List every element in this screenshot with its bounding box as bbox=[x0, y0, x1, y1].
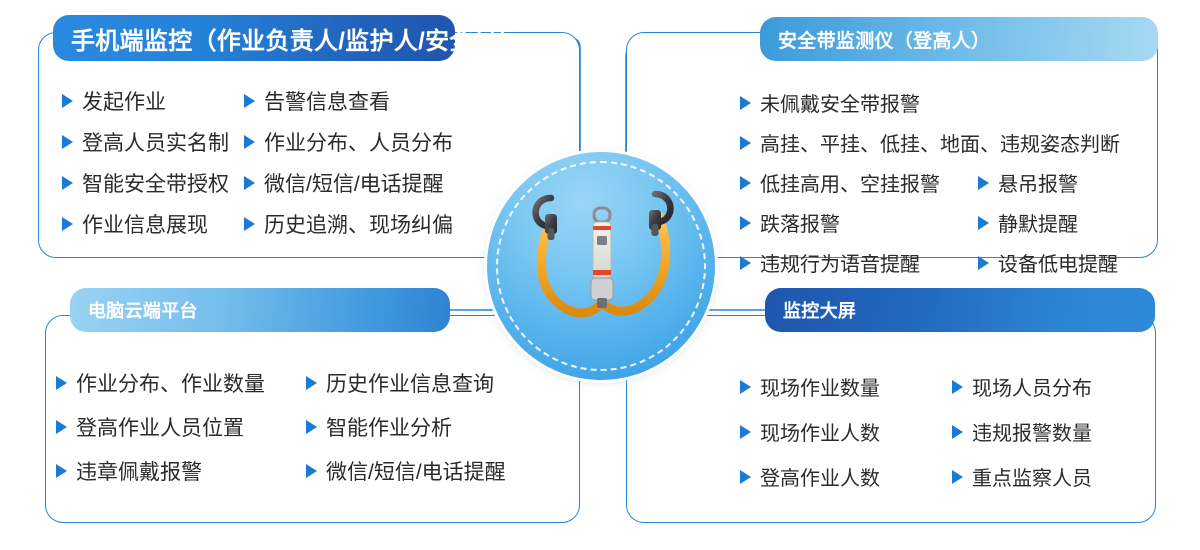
panel-body-mobile: 发起作业 告警信息查看 登高人员实名制 作业分布、人员分布 智能安全带授权 bbox=[62, 86, 572, 250]
list-item-label: 重点监察人员 bbox=[972, 462, 1092, 491]
arrow-bullet-icon bbox=[978, 256, 989, 270]
list-item[interactable]: 违章佩戴报警 bbox=[56, 456, 306, 486]
arrow-bullet-icon bbox=[244, 135, 255, 149]
list-item-label: 微信/短信/电话提醒 bbox=[264, 168, 444, 198]
list-item[interactable]: 发起作业 bbox=[62, 86, 244, 116]
arrow-bullet-icon bbox=[740, 256, 751, 270]
list-item-label: 低挂高用、空挂报警 bbox=[760, 168, 940, 197]
panel-header-mobile-label: 手机端监控（作业负责人/监护人/安全员） bbox=[71, 21, 522, 56]
arrow-bullet-icon bbox=[306, 420, 317, 434]
list-item[interactable]: 微信/短信/电话提醒 bbox=[244, 168, 444, 198]
list-row: 未佩戴安全带报警 bbox=[740, 88, 1160, 117]
list-item[interactable]: 登高人员实名制 bbox=[62, 127, 244, 157]
arrow-bullet-icon bbox=[952, 425, 963, 439]
arrow-bullet-icon bbox=[56, 420, 67, 434]
list-item-label: 违章佩戴报警 bbox=[76, 456, 202, 486]
list-item-label: 悬吊报警 bbox=[998, 168, 1078, 197]
arrow-bullet-icon bbox=[952, 470, 963, 484]
list-row: 现场作业人数 违规报警数量 bbox=[740, 417, 1160, 446]
list-row: 作业信息展现 历史追溯、现场纠偏 bbox=[62, 209, 572, 239]
arrow-bullet-icon bbox=[740, 425, 751, 439]
panel-body-device: 未佩戴安全带报警 高挂、平挂、低挂、地面、违规姿态判断 低挂高用、空挂报警 悬吊… bbox=[740, 88, 1160, 288]
list-row: 违规行为语音提醒 设备低电提醒 bbox=[740, 248, 1160, 277]
list-item[interactable]: 智能安全带授权 bbox=[62, 168, 244, 198]
list-item[interactable]: 历史追溯、现场纠偏 bbox=[244, 209, 453, 239]
list-row: 跌落报警 静默提醒 bbox=[740, 208, 1160, 237]
arrow-bullet-icon bbox=[740, 96, 751, 110]
list-row: 登高人员实名制 作业分布、人员分布 bbox=[62, 127, 572, 157]
list-item[interactable]: 跌落报警 bbox=[740, 208, 978, 237]
diagram-stage: 手机端监控（作业负责人/监护人/安全员） 安全带监测仪（登高人） 电脑云端平台 … bbox=[0, 0, 1200, 550]
arrow-bullet-icon bbox=[740, 380, 751, 394]
arrow-bullet-icon bbox=[62, 176, 73, 190]
panel-body-screen: 现场作业数量 现场人员分布 现场作业人数 违规报警数量 登高作业人数 bbox=[740, 372, 1160, 507]
list-item[interactable]: 现场人员分布 bbox=[952, 372, 1092, 401]
list-item[interactable]: 设备低电提醒 bbox=[978, 248, 1118, 277]
list-row: 高挂、平挂、低挂、地面、违规姿态判断 bbox=[740, 128, 1160, 157]
panel-body-cloud: 作业分布、作业数量 历史作业信息查询 登高作业人员位置 智能作业分析 违章佩戴报… bbox=[56, 368, 576, 500]
list-item[interactable]: 违规报警数量 bbox=[952, 417, 1092, 446]
list-item[interactable]: 悬吊报警 bbox=[978, 168, 1078, 197]
list-item[interactable]: 作业分布、人员分布 bbox=[244, 127, 453, 157]
list-item-label: 历史追溯、现场纠偏 bbox=[264, 209, 453, 239]
panel-header-screen-label: 监控大屏 bbox=[783, 297, 856, 323]
list-item[interactable]: 历史作业信息查询 bbox=[306, 368, 494, 398]
list-item-label: 现场作业人数 bbox=[760, 417, 880, 446]
list-item[interactable]: 静默提醒 bbox=[978, 208, 1078, 237]
list-item-label: 现场人员分布 bbox=[972, 372, 1092, 401]
list-item-label: 登高作业人数 bbox=[760, 462, 880, 491]
list-item-label: 作业信息展现 bbox=[82, 209, 208, 239]
list-item[interactable]: 智能作业分析 bbox=[306, 412, 452, 442]
list-item[interactable]: 高挂、平挂、低挂、地面、违规姿态判断 bbox=[740, 128, 1120, 157]
arrow-bullet-icon bbox=[56, 464, 67, 478]
arrow-bullet-icon bbox=[62, 217, 73, 231]
arrow-bullet-icon bbox=[740, 470, 751, 484]
arrow-bullet-icon bbox=[306, 376, 317, 390]
list-item-label: 历史作业信息查询 bbox=[326, 368, 494, 398]
list-item-label: 作业分布、作业数量 bbox=[76, 368, 265, 398]
arrow-bullet-icon bbox=[740, 216, 751, 230]
list-item[interactable]: 违规行为语音提醒 bbox=[740, 248, 978, 277]
list-item[interactable]: 作业信息展现 bbox=[62, 209, 244, 239]
arrow-bullet-icon bbox=[952, 380, 963, 394]
list-item-label: 高挂、平挂、低挂、地面、违规姿态判断 bbox=[760, 128, 1120, 157]
arrow-bullet-icon bbox=[244, 176, 255, 190]
list-item-label: 作业分布、人员分布 bbox=[264, 127, 453, 157]
list-row: 智能安全带授权 微信/短信/电话提醒 bbox=[62, 168, 572, 198]
panel-header-screen[interactable]: 监控大屏 bbox=[765, 288, 1155, 332]
list-item-label: 智能作业分析 bbox=[326, 412, 452, 442]
panel-header-device[interactable]: 安全带监测仪（登高人） bbox=[760, 17, 1158, 61]
list-item-label: 智能安全带授权 bbox=[82, 168, 229, 198]
list-item-label: 微信/短信/电话提醒 bbox=[326, 456, 506, 486]
list-row: 登高作业人员位置 智能作业分析 bbox=[56, 412, 576, 442]
arrow-bullet-icon bbox=[740, 176, 751, 190]
list-item[interactable]: 现场作业数量 bbox=[740, 372, 952, 401]
panel-header-cloud-label: 电脑云端平台 bbox=[88, 297, 198, 323]
list-item-label: 跌落报警 bbox=[760, 208, 840, 237]
arrow-bullet-icon bbox=[56, 376, 67, 390]
list-item[interactable]: 微信/短信/电话提醒 bbox=[306, 456, 506, 486]
arrow-bullet-icon bbox=[978, 216, 989, 230]
list-row: 作业分布、作业数量 历史作业信息查询 bbox=[56, 368, 576, 398]
panel-header-device-label: 安全带监测仪（登高人） bbox=[778, 26, 990, 53]
list-row: 违章佩戴报警 微信/短信/电话提醒 bbox=[56, 456, 576, 486]
list-item-label: 设备低电提醒 bbox=[998, 248, 1118, 277]
list-item[interactable]: 未佩戴安全带报警 bbox=[740, 88, 920, 117]
list-row: 现场作业数量 现场人员分布 bbox=[740, 372, 1160, 401]
arrow-bullet-icon bbox=[978, 176, 989, 190]
list-item[interactable]: 作业分布、作业数量 bbox=[56, 368, 306, 398]
list-item-label: 发起作业 bbox=[82, 86, 166, 116]
list-row: 登高作业人数 重点监察人员 bbox=[740, 462, 1160, 491]
list-item-label: 登高作业人员位置 bbox=[76, 412, 244, 442]
arrow-bullet-icon bbox=[62, 94, 73, 108]
arrow-bullet-icon bbox=[740, 136, 751, 150]
list-item-label: 违规报警数量 bbox=[972, 417, 1092, 446]
list-item-label: 未佩戴安全带报警 bbox=[760, 88, 920, 117]
list-item-label: 静默提醒 bbox=[998, 208, 1078, 237]
list-item[interactable]: 重点监察人员 bbox=[952, 462, 1092, 491]
list-item-label: 现场作业数量 bbox=[760, 372, 880, 401]
list-item-label: 登高人员实名制 bbox=[82, 127, 229, 157]
list-item-label: 违规行为语音提醒 bbox=[760, 248, 920, 277]
list-item[interactable]: 告警信息查看 bbox=[244, 86, 390, 116]
arrow-bullet-icon bbox=[244, 217, 255, 231]
list-item[interactable]: 低挂高用、空挂报警 bbox=[740, 168, 978, 197]
list-item[interactable]: 登高作业人数 bbox=[740, 462, 952, 491]
list-item[interactable]: 现场作业人数 bbox=[740, 417, 952, 446]
arrow-bullet-icon bbox=[62, 135, 73, 149]
list-row: 低挂高用、空挂报警 悬吊报警 bbox=[740, 168, 1160, 197]
list-item-label: 告警信息查看 bbox=[264, 86, 390, 116]
arrow-bullet-icon bbox=[306, 464, 317, 478]
panel-header-mobile[interactable]: 手机端监控（作业负责人/监护人/安全员） bbox=[53, 15, 455, 61]
list-row: 发起作业 告警信息查看 bbox=[62, 86, 572, 116]
panel-header-cloud[interactable]: 电脑云端平台 bbox=[70, 288, 450, 332]
arrow-bullet-icon bbox=[244, 94, 255, 108]
list-item[interactable]: 登高作业人员位置 bbox=[56, 412, 306, 442]
